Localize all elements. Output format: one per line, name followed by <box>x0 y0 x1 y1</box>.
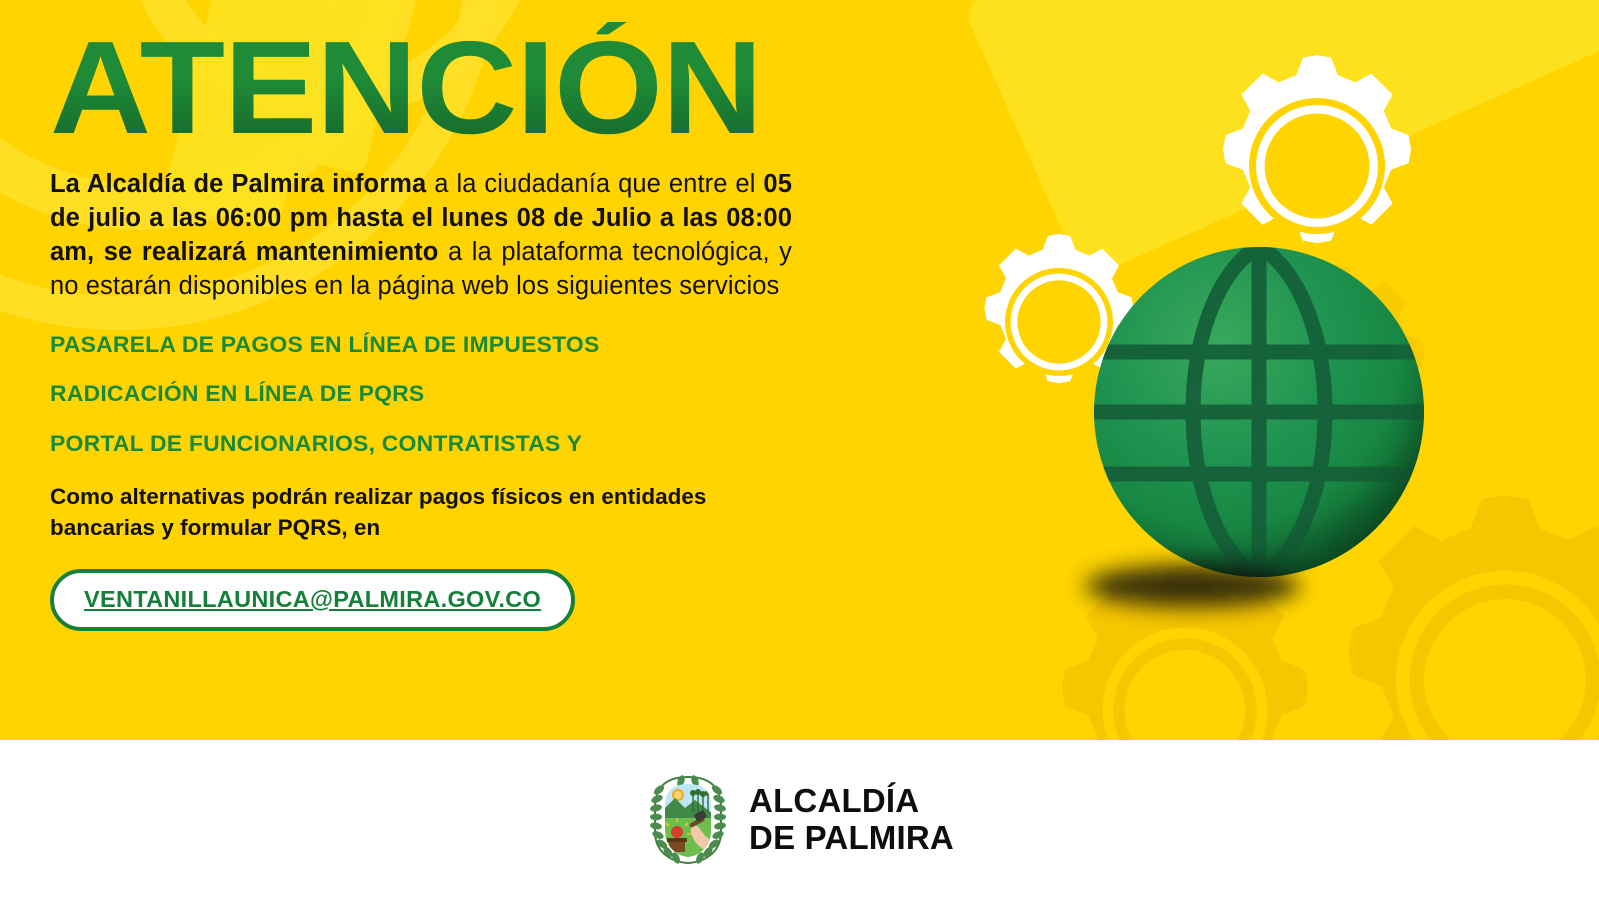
list-item: PORTAL DE FUNCIONARIOS, CONTRATISTAS Y <box>50 433 866 456</box>
illustration-gears-globe <box>919 0 1599 740</box>
poster-content: ATENCIÓN La Alcaldía de Palmira informa … <box>50 22 850 631</box>
email-contact-button[interactable]: VENTANILLAUNICA@PALMIRA.GOV.CO <box>50 569 575 631</box>
poster-canvas: ATENCIÓN La Alcaldía de Palmira informa … <box>0 0 1599 899</box>
footer-brand-line-2: DE PALMIRA <box>749 820 954 857</box>
globe-icon <box>1087 246 1431 578</box>
footer-brand-line-1: ALCALDÍA <box>749 783 954 820</box>
footer-bar: ALCALDÍA DE PALMIRA <box>0 740 1599 899</box>
announcement-lead-bold: La Alcaldía de Palmira informa <box>50 170 426 198</box>
alternatives-note: Como alternativas podrán realizar pagos … <box>50 482 730 543</box>
affected-services-list: PASARELA DE PAGOS EN LÍNEA DE IMPUESTOS … <box>50 334 850 456</box>
announcement-text-1: a la ciudadanía que entre el <box>426 170 763 198</box>
footer-brand: ALCALDÍA DE PALMIRA <box>749 783 954 857</box>
yellow-background-panel: ATENCIÓN La Alcaldía de Palmira informa … <box>0 0 1599 740</box>
palmira-coat-of-arms-icon <box>645 774 731 866</box>
gear-icon <box>1223 55 1411 243</box>
announcement-paragraph: La Alcaldía de Palmira informa a la ciud… <box>50 168 792 304</box>
globe-drop-shadow <box>1085 565 1300 607</box>
list-item: RADICACIÓN EN LÍNEA DE PQRS <box>50 383 866 406</box>
list-item: PASARELA DE PAGOS EN LÍNEA DE IMPUESTOS <box>50 334 866 357</box>
page-title: ATENCIÓN <box>50 22 898 154</box>
